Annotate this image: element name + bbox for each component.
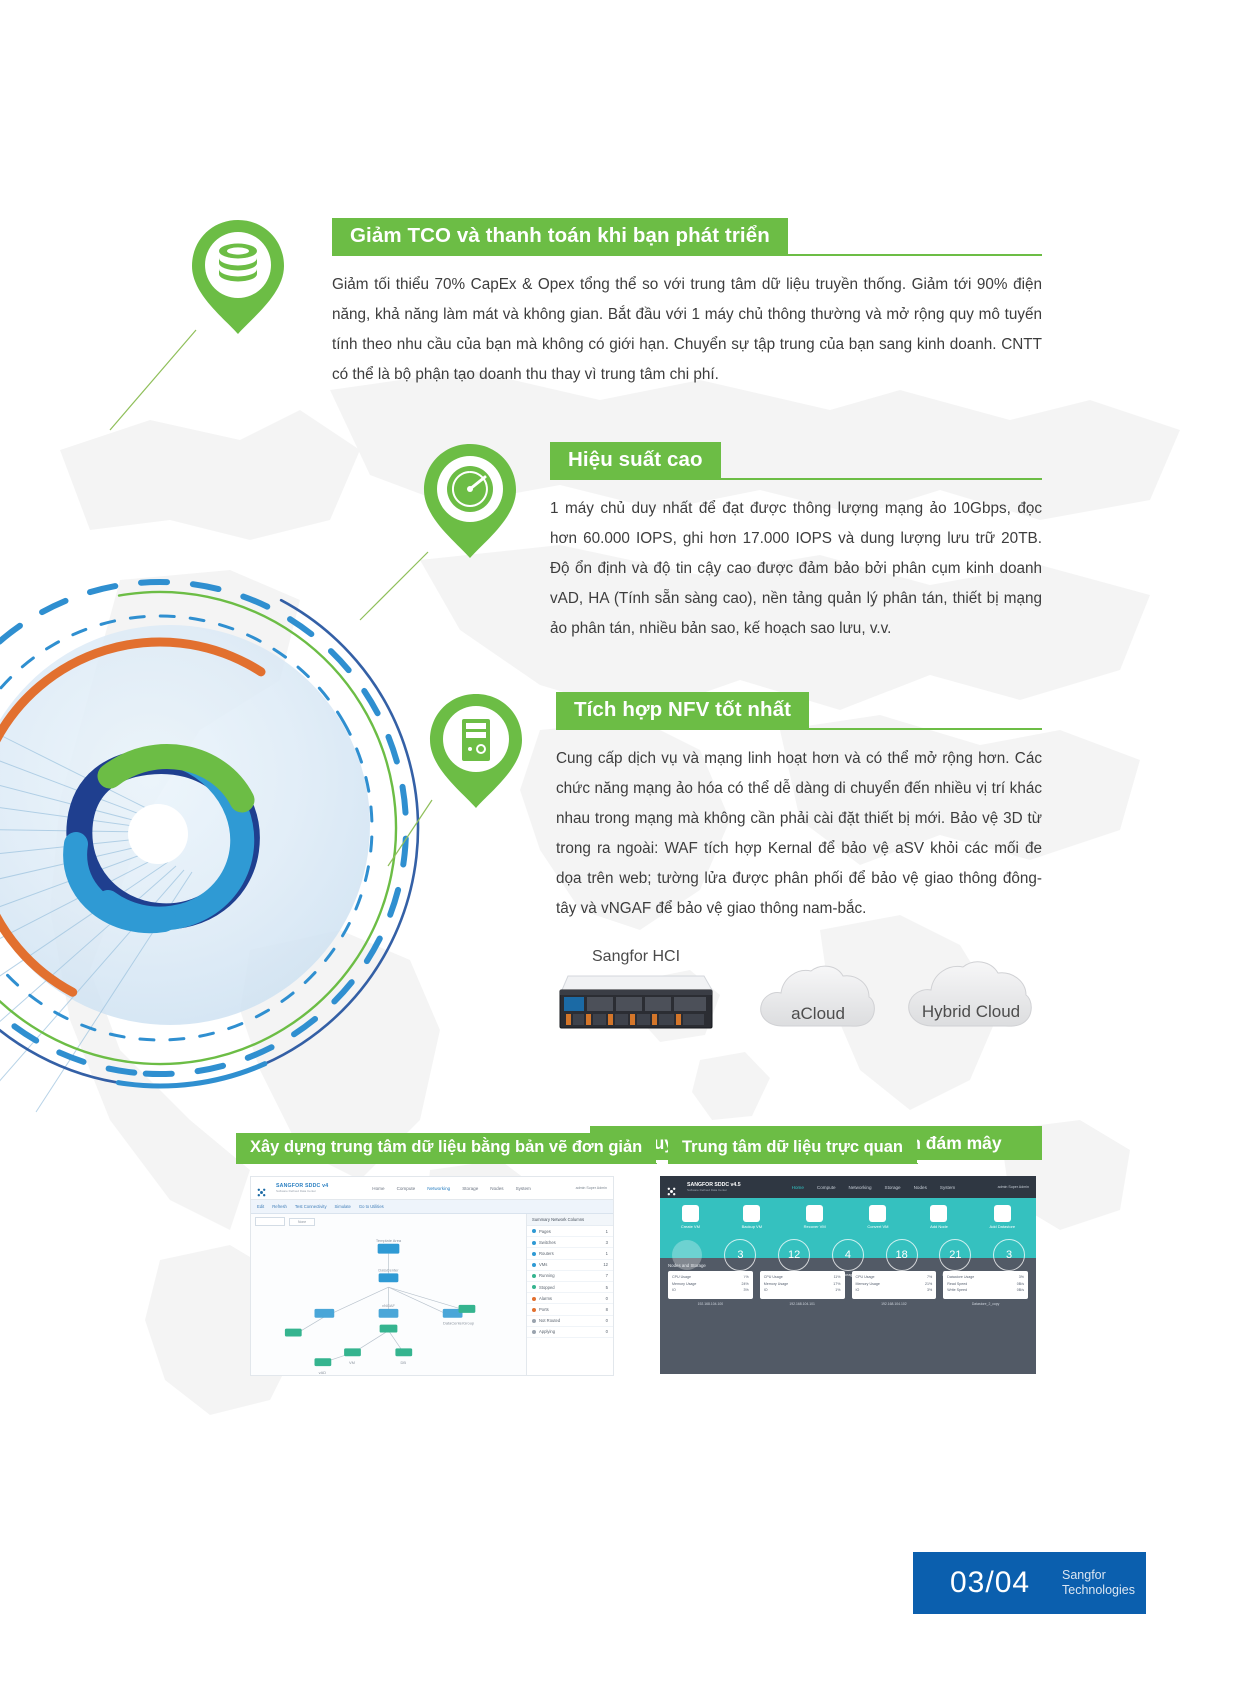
ui1-nav-nodes[interactable]: Nodes	[490, 1186, 503, 1191]
ui2-action-backup-vm[interactable]: Backup VM	[742, 1205, 762, 1229]
ui1-toolbar[interactable]: Edit Refresh Test Connectivity Simulate …	[251, 1200, 613, 1214]
section-tco-title: Giảm TCO và thanh toán khi bạn phát triể…	[332, 218, 788, 256]
ui1-nav-storage[interactable]: Storage	[462, 1186, 478, 1191]
ui1-tool-test-connectivity[interactable]: Test Connectivity	[295, 1204, 327, 1209]
ui1-tool-utilities[interactable]: Go to Utilities	[359, 1204, 384, 1209]
ui1-nav-system[interactable]: System	[516, 1186, 531, 1191]
ui2-card-footers: 192.168.104.100 192.168.104.101 192.168.…	[660, 1302, 1036, 1306]
sangfor-hci-server-image	[556, 972, 714, 1034]
ui1-tool-simulate[interactable]: Simulate	[335, 1204, 351, 1209]
section-nfv-header-wrap: Tích hợp NFV tốt nhất	[556, 692, 1042, 730]
list-item[interactable]: Not Routed0	[527, 1316, 613, 1327]
list-item[interactable]: Applying0	[527, 1327, 613, 1338]
ui2-nav-compute[interactable]: Compute	[817, 1185, 836, 1190]
footer-brand-line1: Sangfor	[1062, 1568, 1135, 1583]
cloud-hybrid-label: Hybrid Cloud	[905, 1002, 1037, 1022]
pin-speedometer	[422, 442, 518, 560]
screenshot-1-title: Xây dựng trung tâm dữ liệu bằng bản vẽ đ…	[236, 1133, 656, 1164]
list-item[interactable]: Switches3	[527, 1237, 613, 1248]
cloud-acloud: aCloud	[757, 960, 879, 1034]
ui2-stat-cpu[interactable]: 18CPU Usage	[886, 1239, 918, 1277]
ui1-tool-edit[interactable]: Edit	[257, 1204, 264, 1209]
ui2-topbar: SANGFOR SDDC v4.5 Software Defined Data …	[660, 1176, 1036, 1198]
ui1-nav-home[interactable]: Home	[372, 1186, 384, 1191]
list-item[interactable]: Routers1	[527, 1248, 613, 1259]
screenshot-1-image: SANGFOR SDDC v4 Software Defined Data Ce…	[250, 1176, 614, 1376]
pin-database-coins	[190, 218, 286, 336]
list-item[interactable]: VMs12	[527, 1260, 613, 1271]
ui2-action-convert-vm[interactable]: Convert VM	[867, 1205, 888, 1229]
ui1-node-template-area: Template Area	[376, 1238, 402, 1243]
ui2-stat-memory[interactable]: 21Memory Usage	[939, 1239, 971, 1277]
ui1-brand: SANGFOR SDDC v4 Software Defined Data Ce…	[276, 1183, 328, 1193]
ui1-panel-rows: Pages1 Switches3 Routers1 VMs12 Running7…	[527, 1226, 613, 1338]
ui2-stat-nodes[interactable]: 3Nodes	[724, 1239, 756, 1277]
cloud-acloud-label: aCloud	[757, 1004, 879, 1024]
ui2-action-add-datastore[interactable]: Add Datastore	[990, 1205, 1016, 1229]
ui2-nav-storage[interactable]: Storage	[885, 1185, 901, 1190]
add-node-icon	[930, 1205, 947, 1222]
ui2-nav-networking[interactable]: Networking	[849, 1185, 872, 1190]
ui2-card-foot: 192.168.104.102	[852, 1302, 937, 1306]
ui2-brand: SANGFOR SDDC v4.5 Software Defined Data …	[687, 1182, 741, 1192]
section-nfv: Tích hợp NFV tốt nhất Cung cấp dịch vụ v…	[556, 692, 1042, 924]
ui2-card-foot: 192.168.104.100	[668, 1302, 753, 1306]
ui2-brand-sub: Software Defined Data Center	[687, 1188, 741, 1192]
ui2-stat-datastore[interactable]: 3Datastore	[993, 1239, 1025, 1277]
cloud-hybrid: Hybrid Cloud	[905, 956, 1037, 1034]
footer-brand-line2: Technologies	[1062, 1583, 1135, 1598]
ui1-nav-compute[interactable]: Compute	[397, 1186, 416, 1191]
section-nfv-title: Tích hợp NFV tốt nhất	[556, 692, 809, 730]
convert-vm-icon	[869, 1205, 886, 1222]
list-item[interactable]: Running7	[527, 1271, 613, 1282]
section-performance-title: Hiệu suất cao	[550, 442, 721, 480]
ui2-nav-nodes[interactable]: Nodes	[914, 1185, 927, 1190]
add-datastore-icon	[994, 1205, 1011, 1222]
section-tco-body: Giảm tối thiểu 70% CapEx & Opex tổng thể…	[332, 270, 1042, 390]
ui2-card-foot: 192.168.104.101	[760, 1302, 845, 1306]
list-item[interactable]: Stopped5	[527, 1282, 613, 1293]
ui1-node-datacenter: DataCenter	[378, 1267, 399, 1272]
ui1-user[interactable]: admin Super Admin	[576, 1186, 607, 1190]
ui2-stats-row: Cluster Scheduling 3Nodes 12VMs 4Storage…	[660, 1232, 1036, 1284]
ui1-topology-canvas[interactable]: None	[251, 1214, 526, 1376]
ui1-node-vad: vAD	[319, 1370, 327, 1374]
ui2-stat-storage[interactable]: 4Storage	[832, 1239, 864, 1277]
section-performance-body: 1 máy chủ duy nhất để đạt được thông lượ…	[550, 494, 1042, 644]
list-item[interactable]: Ports8	[527, 1304, 613, 1315]
ui2-nav[interactable]: Home Compute Networking Storage Nodes Sy…	[792, 1185, 956, 1190]
recover-vm-icon	[806, 1205, 823, 1222]
ui1-tool-refresh[interactable]: Refresh	[272, 1204, 287, 1209]
backup-vm-icon	[743, 1205, 760, 1222]
ui1-node-datacentergroup: DataCenterGroup	[443, 1321, 475, 1326]
footer-brand: Sangfor Technologies	[1062, 1568, 1135, 1598]
ui1-logo-icon	[257, 1184, 266, 1193]
ui2-logo-icon	[667, 1183, 676, 1192]
ui1-brand-sub: Software Defined Data Center	[276, 1189, 328, 1193]
ui2-action-recover-vm[interactable]: Recover VM	[804, 1205, 826, 1229]
screenshot-2-title: Trung tâm dữ liệu trực quan	[668, 1133, 917, 1164]
ui2-cluster-scheduling: Cluster Scheduling	[671, 1240, 703, 1276]
ui2-nav-home[interactable]: Home	[792, 1185, 804, 1190]
section-performance-header-wrap: Hiệu suất cao	[550, 442, 1042, 480]
list-item[interactable]: Pages1	[527, 1226, 613, 1237]
pin-server-tower	[428, 692, 524, 810]
sangfor-hci-label: Sangfor HCI	[592, 948, 680, 966]
ui2-stat-vms[interactable]: 12VMs	[778, 1239, 810, 1277]
ui2-action-row: Create VM Backup VM Recover VM Convert V…	[660, 1198, 1036, 1232]
ui1-summary-panel[interactable]: Summary Network Columns Pages1 Switches3…	[526, 1214, 613, 1376]
ui2-user[interactable]: admin Super Admin	[998, 1185, 1029, 1189]
screenshot-2-image: SANGFOR SDDC v4.5 Software Defined Data …	[660, 1176, 1036, 1374]
ui1-node-vngaf: vNGAF	[382, 1303, 396, 1308]
ui1-dropdown[interactable]: None	[289, 1218, 315, 1226]
ui1-nav[interactable]: Home Compute Networking Storage Nodes Sy…	[372, 1186, 531, 1191]
ui1-body: None	[251, 1214, 613, 1376]
footer-page-number: 03/04	[950, 1566, 1030, 1600]
ui1-topbar: SANGFOR SDDC v4 Software Defined Data Ce…	[251, 1177, 613, 1200]
section-performance: Hiệu suất cao 1 máy chủ duy nhất để đạt …	[550, 442, 1042, 644]
speedometer-icon	[447, 466, 493, 512]
ui2-action-add-node[interactable]: Add Node	[930, 1205, 948, 1229]
ui2-card-foot: Datastore_2_copy	[943, 1302, 1028, 1306]
list-item[interactable]: Alarms0	[527, 1293, 613, 1304]
ui1-nav-networking[interactable]: Networking	[427, 1186, 450, 1191]
ui2-action-create-vm[interactable]: Create VM	[681, 1205, 700, 1229]
create-vm-icon	[682, 1205, 699, 1222]
server-tower-icon	[462, 719, 490, 761]
section-tco-header-wrap: Giảm TCO và thanh toán khi bạn phát triể…	[332, 218, 1042, 256]
section-nfv-body: Cung cấp dịch vụ và mạng linh hoạt hơn v…	[556, 744, 1042, 924]
ui1-panel-title: Summary Network Columns	[527, 1214, 613, 1226]
ui1-node-db: DB	[401, 1360, 407, 1365]
section-tco: Giảm TCO và thanh toán khi bạn phát triể…	[332, 218, 1042, 390]
ui2-nav-system[interactable]: System	[940, 1185, 955, 1190]
ui1-node-vm: VM	[349, 1360, 355, 1365]
ui2-quick-actions: Create VM Backup VM Recover VM Convert V…	[660, 1198, 1036, 1258]
